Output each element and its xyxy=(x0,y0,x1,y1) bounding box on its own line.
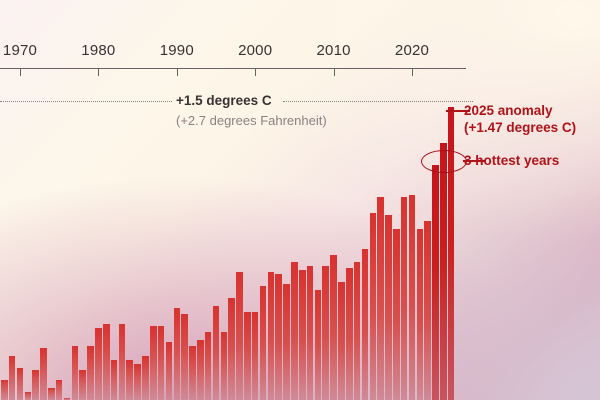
threshold-line-right xyxy=(283,101,473,102)
bar-2001 xyxy=(260,286,267,400)
bar-series xyxy=(0,0,600,400)
x-tick-2010 xyxy=(334,68,335,76)
bar-1988 xyxy=(158,326,165,400)
bar-2016 xyxy=(377,197,384,400)
bar-1974 xyxy=(48,388,55,400)
bar-1973 xyxy=(40,348,47,400)
bar-2013 xyxy=(354,262,361,400)
bar-1991 xyxy=(181,314,188,400)
bar-1987 xyxy=(150,326,157,400)
bar-2000 xyxy=(252,312,259,400)
bar-2008 xyxy=(315,290,322,400)
bar-1969 xyxy=(9,356,16,400)
bar-2003 xyxy=(275,274,282,400)
x-axis-line xyxy=(0,68,466,69)
bar-1986 xyxy=(142,356,149,400)
bar-1983 xyxy=(119,324,126,400)
x-tick-1980 xyxy=(98,68,99,76)
bar-1972 xyxy=(32,370,39,400)
bar-2015 xyxy=(370,213,377,400)
bar-2020 xyxy=(409,195,416,400)
bar-1997 xyxy=(228,298,235,400)
bar-1985 xyxy=(134,364,141,400)
bar-2018 xyxy=(393,229,400,400)
threshold-label: +1.5 degrees C xyxy=(176,93,272,108)
bar-2024 xyxy=(440,143,447,400)
bar-1992 xyxy=(189,346,196,400)
bar-2017 xyxy=(385,215,392,400)
x-tick-label-2010: 2010 xyxy=(317,42,351,59)
x-tick-label-2020: 2020 xyxy=(395,42,429,59)
x-tick-label-1970: 1970 xyxy=(3,42,37,59)
bar-2004 xyxy=(283,284,290,400)
chart-canvas: 197019801990200020102020 +1.5 degrees C … xyxy=(0,0,600,400)
bar-2010 xyxy=(330,255,337,400)
bar-1980 xyxy=(95,328,102,400)
bar-1978 xyxy=(79,370,86,400)
anomaly-callout: 2025 anomaly (+1.47 degrees C) xyxy=(464,102,576,136)
bar-1994 xyxy=(205,332,212,400)
bar-2002 xyxy=(268,272,275,400)
threshold-line-left xyxy=(0,101,172,102)
bar-1993 xyxy=(197,340,204,400)
bar-2012 xyxy=(346,268,353,400)
bar-2023 xyxy=(432,165,439,400)
bar-2014 xyxy=(362,249,369,400)
bar-2022 xyxy=(424,221,431,400)
bar-2019 xyxy=(401,197,408,400)
bar-2021 xyxy=(417,229,424,400)
bar-2011 xyxy=(338,282,345,400)
bar-1995 xyxy=(213,306,220,400)
bar-1975 xyxy=(56,380,63,400)
x-tick-2020 xyxy=(412,68,413,76)
bar-2006 xyxy=(299,270,306,400)
x-tick-2000 xyxy=(255,68,256,76)
bar-1996 xyxy=(221,332,228,400)
bar-1998 xyxy=(236,272,243,400)
anomaly-callout-line2: (+1.47 degrees C) xyxy=(464,119,576,136)
anomaly-callout-line1: 2025 anomaly xyxy=(464,102,576,119)
bar-1977 xyxy=(72,346,79,400)
bar-1981 xyxy=(103,324,110,400)
bar-1989 xyxy=(166,342,173,400)
threshold-sublabel: (+2.7 degrees Fahrenheit) xyxy=(176,113,327,128)
x-tick-label-2000: 2000 xyxy=(238,42,272,59)
hottest-years-ellipse-icon xyxy=(421,150,467,173)
x-tick-1990 xyxy=(177,68,178,76)
bar-1999 xyxy=(244,312,251,400)
bar-2005 xyxy=(291,262,298,400)
bar-1968 xyxy=(1,380,8,400)
bar-2007 xyxy=(307,266,314,400)
bar-2009 xyxy=(322,266,329,400)
bar-1970 xyxy=(17,368,24,400)
x-tick-label-1980: 1980 xyxy=(81,42,115,59)
bar-1984 xyxy=(126,360,133,400)
bar-1979 xyxy=(87,346,94,400)
x-tick-label-1990: 1990 xyxy=(160,42,194,59)
hottest-years-callout: 3 hottest years xyxy=(464,152,559,169)
bar-1982 xyxy=(111,360,118,400)
x-tick-1970 xyxy=(20,68,21,76)
bar-1971 xyxy=(25,392,32,400)
bar-1990 xyxy=(174,308,181,400)
